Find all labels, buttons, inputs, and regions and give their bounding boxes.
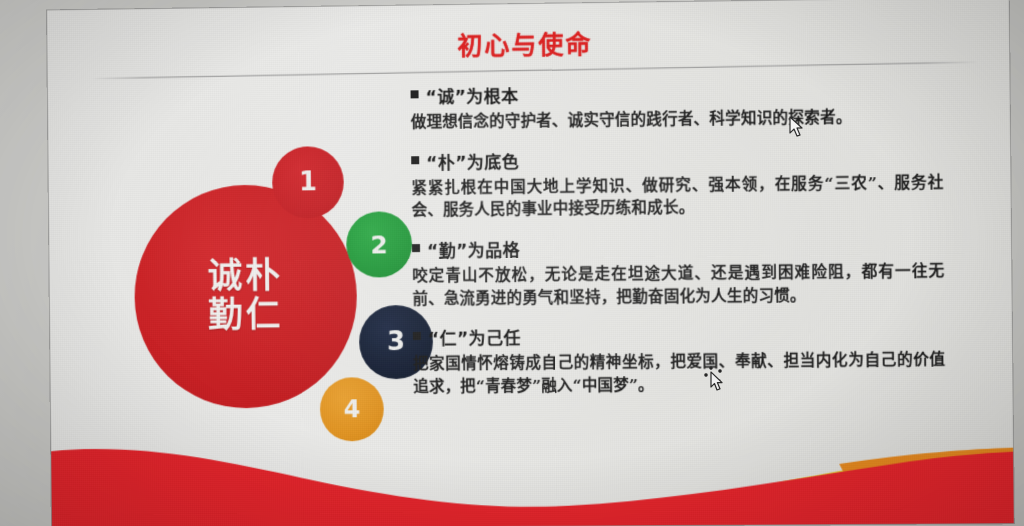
content-block-4: “仁”为己任 把家国情怀熔铸成自己的精神坐标，把爱国、奉献、担当内化为自己的价值… xyxy=(413,320,946,398)
square-bullet-icon xyxy=(411,90,419,98)
node-1-cheng[interactable]: 1 xyxy=(272,146,344,219)
content-block-4-heading: “仁”为己任 xyxy=(413,320,945,350)
diagram-center-circle[interactable]: 诚朴 勤仁 xyxy=(134,184,358,409)
diagram-center-label: 诚朴 勤仁 xyxy=(207,257,283,336)
content-block-3: “勤”为品格 咬定青山不放松，无论是走在坦途大道、还是遇到困难险阻，都有一往无前… xyxy=(412,232,945,310)
content-block-3-body: 咬定青山不放松，无论是走在坦途大道、还是遇到困难险阻，都有一往无前、急流勇进的勇… xyxy=(412,260,945,310)
content-column: “诚”为根本 做理想信念的守护者、诚实守信的践行者、科学知识的探索者。 “朴”为… xyxy=(410,77,945,398)
square-bullet-icon xyxy=(412,244,420,252)
projected-slide-photo: 初心与使命 诚朴 勤仁 1 2 3 4 “诚”为根本 做理 xyxy=(0,0,1024,526)
content-block-2-body: 紧紧扎根在中国大地上学知识、做研究、强本领，在服务“三农”、服务社会、服务人民的… xyxy=(411,171,944,222)
content-block-2-heading-text: “朴”为底色 xyxy=(426,148,519,174)
square-bullet-icon xyxy=(413,332,421,340)
node-2-pu[interactable]: 2 xyxy=(346,211,412,278)
content-block-3-heading-text: “勤”为品格 xyxy=(427,236,520,262)
wave-red-band xyxy=(51,443,1014,526)
content-block-4-heading-text: “仁”为己任 xyxy=(428,324,521,350)
slide-surface: 初心与使命 诚朴 勤仁 1 2 3 4 “诚”为根本 做理 xyxy=(47,0,1014,526)
content-block-1-heading-text: “诚”为根本 xyxy=(425,82,518,108)
content-block-2-heading: “朴”为底色 xyxy=(411,143,943,174)
page-title: 初心与使命 xyxy=(47,20,1009,68)
slide-canvas: 初心与使命 诚朴 勤仁 1 2 3 4 “诚”为根本 做理 xyxy=(47,0,1014,526)
square-bullet-icon xyxy=(411,156,419,164)
bottom-wave-decoration xyxy=(51,402,1014,526)
content-block-4-body: 把家国情怀熔铸成自己的精神坐标，把爱国、奉献、担当内化为自己的价值追求，把“青春… xyxy=(413,349,946,399)
content-block-1-heading: “诚”为根本 xyxy=(410,77,942,108)
content-block-3-heading: “勤”为品格 xyxy=(412,232,944,262)
content-block-1: “诚”为根本 做理想信念的守护者、诚实守信的践行者、科学知识的探索者。 xyxy=(410,77,943,134)
content-block-1-body: 做理想信念的守护者、诚实守信的践行者、科学知识的探索者。 xyxy=(411,105,943,134)
content-block-2: “朴”为底色 紧紧扎根在中国大地上学知识、做研究、强本领，在服务“三农”、服务社… xyxy=(411,143,944,222)
